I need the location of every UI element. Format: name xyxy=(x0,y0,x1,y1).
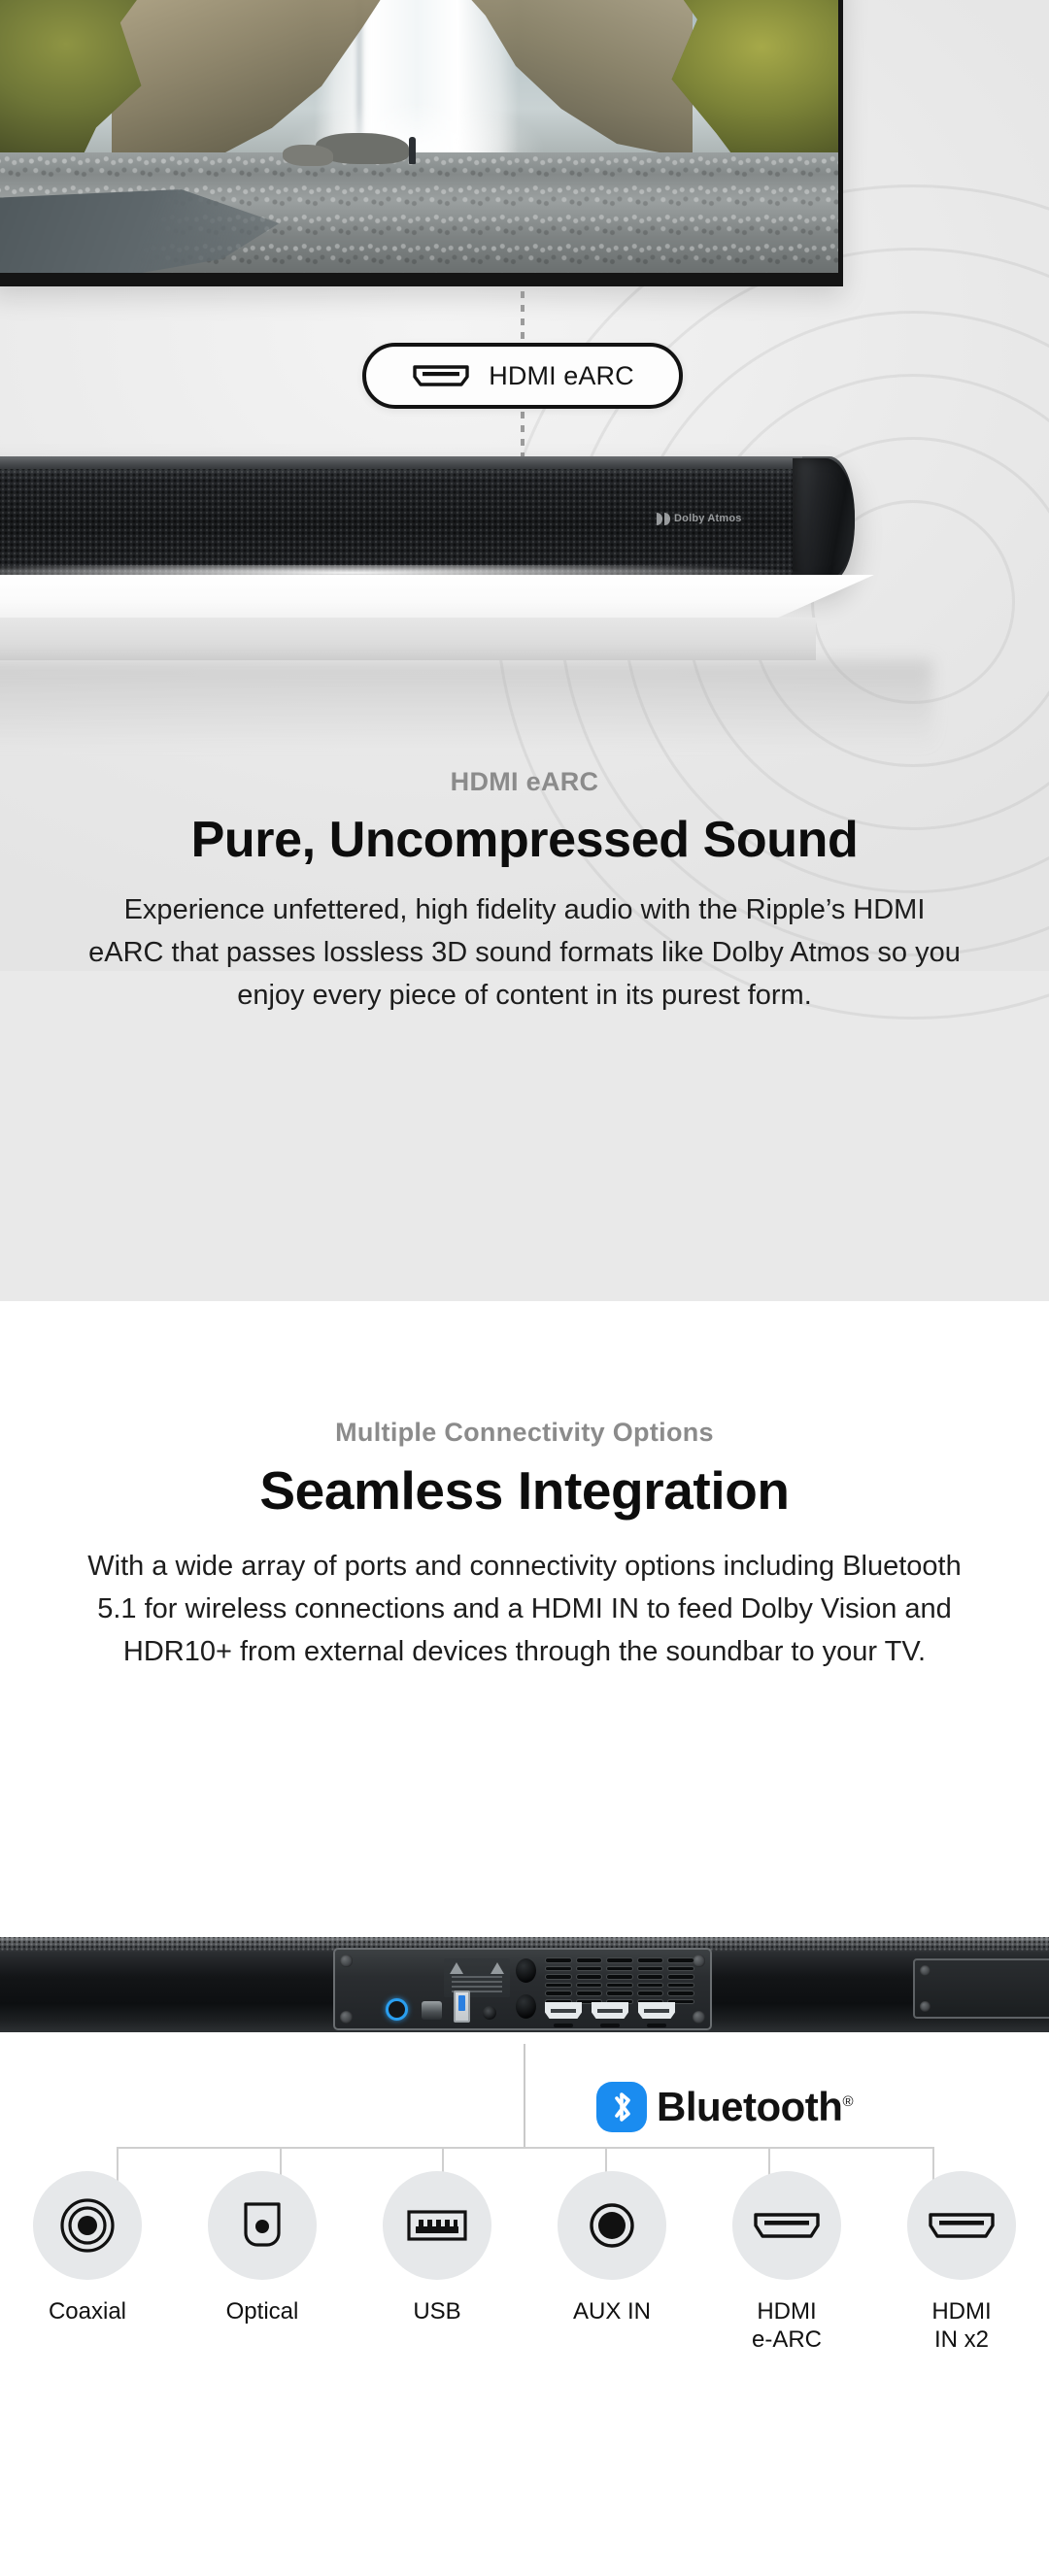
rear-io-panel xyxy=(333,1948,712,2030)
ventilation-grid xyxy=(545,1957,694,2004)
console-shadow xyxy=(0,660,932,748)
connector-tree xyxy=(0,2044,1049,2180)
hdmi-connector-icon xyxy=(411,362,471,389)
usb-icon xyxy=(383,2171,491,2280)
port-label: HDMI IN x2 xyxy=(931,2297,991,2355)
dolby-atmos-logo: Dolby Atmos xyxy=(657,511,746,526)
rear-hdmi-port xyxy=(545,2002,582,2019)
product-feature-page: HDMI eARC Dolby Atmos HDMI eARC Pure, Un… xyxy=(0,0,1049,2576)
rear-coaxial-port xyxy=(386,1998,408,2021)
optical-icon xyxy=(208,2171,317,2280)
dotted-connector-top xyxy=(521,291,524,346)
bluetooth-wordmark: Bluetooth® xyxy=(657,2084,853,2130)
section2-eyebrow: Multiple Connectivity Options xyxy=(0,1418,1049,1448)
port-item-usb[interactable]: USB xyxy=(350,2171,524,2355)
hdmi-in-icon xyxy=(907,2171,1016,2280)
console-shelf-top xyxy=(0,575,874,619)
connectivity-icon-row: Coaxial Optical xyxy=(0,2171,1049,2355)
rear-optical-port xyxy=(422,2001,442,2020)
mount-hole xyxy=(516,1958,536,1983)
coaxial-icon xyxy=(33,2171,142,2280)
section2-copy: Multiple Connectivity Options Seamless I… xyxy=(0,1418,1049,1673)
rear-right-recess xyxy=(913,1958,1049,2019)
port-item-aux-in[interactable]: AUX IN xyxy=(524,2171,699,2355)
port-item-coaxial[interactable]: Coaxial xyxy=(0,2171,175,2355)
section1-copy: HDMI eARC Pure, Uncompressed Sound Exper… xyxy=(0,767,1049,1017)
port-item-hdmi-in[interactable]: HDMI IN x2 xyxy=(874,2171,1049,2355)
port-item-optical[interactable]: Optical xyxy=(175,2171,350,2355)
section2-headline: Seamless Integration xyxy=(0,1459,1049,1522)
hdmi-earc-badge-label: HDMI eARC xyxy=(489,361,633,391)
port-label: USB xyxy=(413,2297,460,2325)
port-label: Optical xyxy=(226,2297,299,2325)
section2-body: With a wide array of ports and connectiv… xyxy=(73,1545,976,1673)
port-label: AUX IN xyxy=(573,2297,651,2325)
soundbar-rear xyxy=(0,1927,1049,2044)
hdmi-earc-badge: HDMI eARC xyxy=(362,343,683,409)
hdmi-earc-icon xyxy=(732,2171,841,2280)
soundbar-front: Dolby Atmos xyxy=(0,456,855,583)
tv-panel xyxy=(0,0,843,286)
rear-hdmi-port xyxy=(592,2002,628,2019)
tree-horizontal-bar xyxy=(117,2147,934,2149)
section1-eyebrow: HDMI eARC xyxy=(0,767,1049,797)
rear-aux-port xyxy=(483,2006,496,2020)
port-item-hdmi-earc[interactable]: HDMI e-ARC xyxy=(699,2171,874,2355)
bluetooth-icon xyxy=(596,2082,647,2132)
mount-hole xyxy=(516,1994,536,2019)
rear-usb-port xyxy=(454,1991,470,2023)
person-silhouette xyxy=(409,137,416,164)
tv-screen xyxy=(0,0,838,273)
aux-in-icon xyxy=(558,2171,666,2280)
tree-stem xyxy=(524,2044,525,2149)
waterfall-scene-image xyxy=(0,0,838,273)
port-label: HDMI e-ARC xyxy=(752,2297,822,2355)
connectivity-section: Multiple Connectivity Options Seamless I… xyxy=(0,1301,1049,2576)
bluetooth-badge: Bluetooth® xyxy=(596,2082,853,2132)
rear-hdmi-port xyxy=(638,2002,675,2019)
console-shelf-front xyxy=(0,618,816,660)
tv-bezel xyxy=(0,273,843,286)
section1-headline: Pure, Uncompressed Sound xyxy=(0,811,1049,869)
section1-body: Experience unfettered, high fidelity aud… xyxy=(87,888,962,1017)
hero-section: HDMI eARC Dolby Atmos HDMI eARC Pure, Un… xyxy=(0,0,1049,1301)
port-label: Coaxial xyxy=(49,2297,126,2325)
